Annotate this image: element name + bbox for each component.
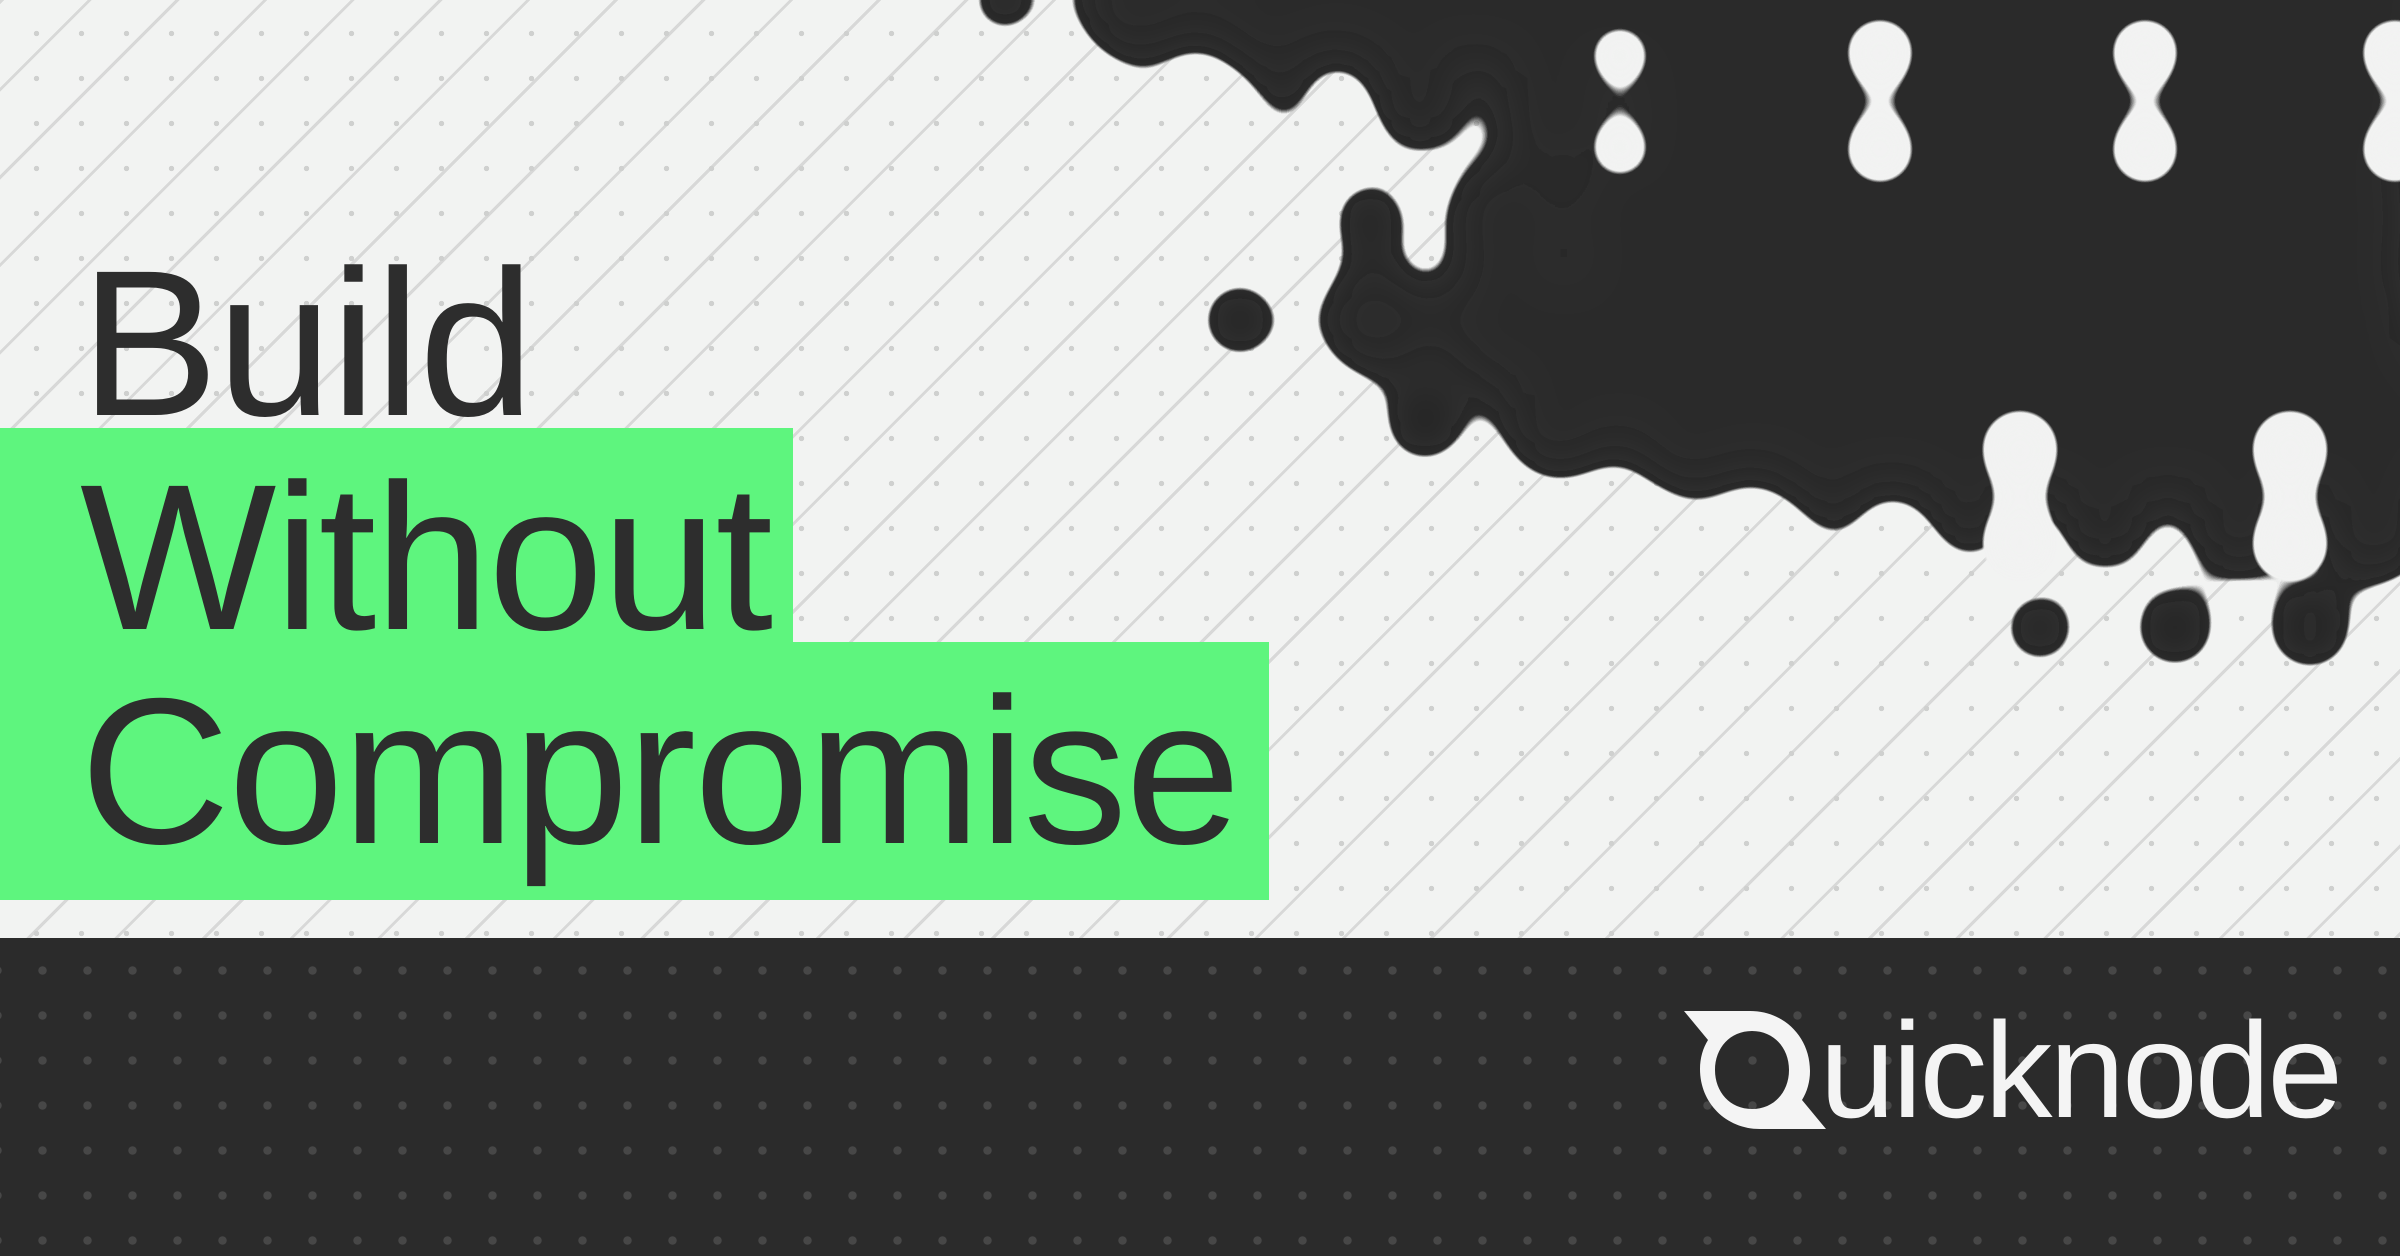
hero-headline: Build Without Compromise — [0, 0, 1400, 900]
headline-row-1: Build — [0, 0, 1400, 450]
headline-line-build: Build — [0, 238, 533, 450]
hero-light-panel: Build Without Compromise — [0, 0, 2400, 938]
headline-line-compromise: Compromise — [0, 642, 1269, 900]
halftone-light-diamonds — [1584, 12, 2400, 589]
quicknode-logo[interactable]: uicknode Quicknode — [1680, 1010, 2340, 1130]
hero-dark-footer: uicknode Quicknode — [0, 938, 2400, 1256]
quicknode-hero-banner: Build Without Compromise uicknode Quickn… — [0, 0, 2400, 1256]
quicknode-q-icon — [1680, 1007, 1826, 1133]
quicknode-wordmark: uicknode — [1820, 1010, 2340, 1130]
headline-row-3: Compromise — [0, 642, 1400, 900]
